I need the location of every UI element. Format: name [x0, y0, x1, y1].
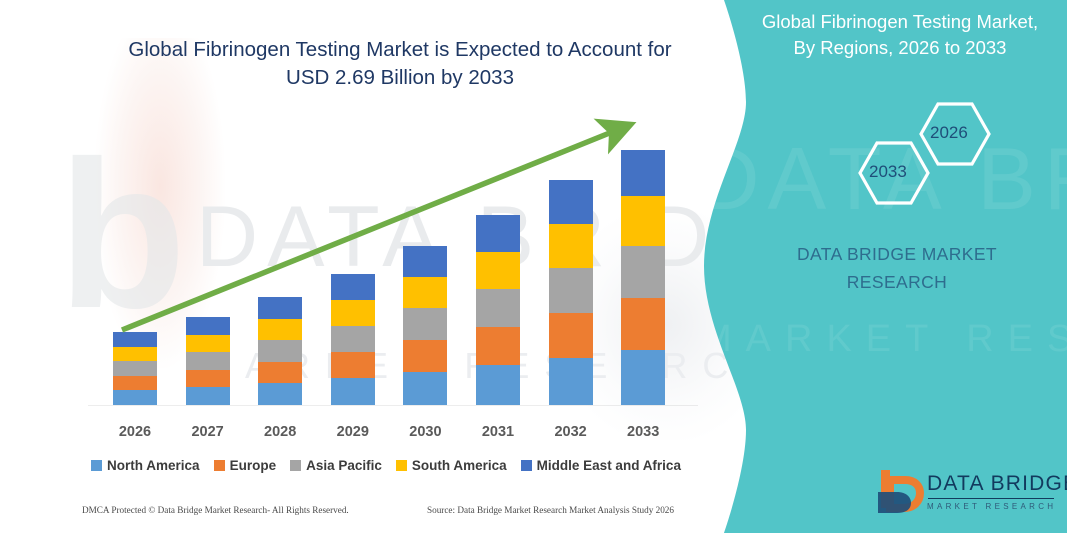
- bar-2027: [186, 317, 230, 405]
- bar-segment: [549, 268, 593, 313]
- footer-source: Source: Data Bridge Market Research Mark…: [427, 505, 674, 515]
- chart-plot-area: 20262027202820292030203120322033 North A…: [0, 0, 730, 533]
- bar-2033: [621, 150, 665, 405]
- bar-segment: [621, 196, 665, 246]
- legend-label: North America: [107, 458, 200, 473]
- legend-label: Europe: [230, 458, 277, 473]
- x-axis-label-2027: 2027: [173, 424, 243, 440]
- legend-label: Asia Pacific: [306, 458, 382, 473]
- x-axis-label-2033: 2033: [608, 424, 678, 440]
- x-axis-label-2029: 2029: [318, 424, 388, 440]
- bar-segment: [476, 365, 520, 405]
- logo-tagline: MARKET RESEARCH: [927, 502, 1067, 511]
- bar-segment: [113, 332, 157, 347]
- bar-segment: [549, 224, 593, 268]
- bar-2026: [113, 332, 157, 405]
- data-bridge-logo: DATA BRIDGE MARKET RESEARCH: [875, 468, 1060, 520]
- bar-segment: [403, 308, 447, 340]
- hexagon-group: 2026 2033: [820, 96, 1050, 211]
- x-axis-label-2030: 2030: [390, 424, 460, 440]
- logo-name: DATA BRIDGE: [927, 472, 1067, 496]
- legend-swatch-icon: [290, 460, 301, 471]
- bar-segment: [403, 372, 447, 405]
- bar-segment: [476, 289, 520, 327]
- bar-segment: [258, 383, 302, 405]
- bar-segment: [331, 300, 375, 326]
- legend-swatch-icon: [396, 460, 407, 471]
- legend-item-asia-pacific[interactable]: Asia Pacific: [290, 458, 382, 473]
- bar-segment: [621, 298, 665, 350]
- legend-label: South America: [412, 458, 507, 473]
- bar-segment: [476, 327, 520, 365]
- panel-title-line2: By Regions, 2026 to 2033: [740, 35, 1060, 61]
- bar-segment: [186, 370, 230, 387]
- bar-segment: [113, 347, 157, 361]
- bar-segment: [549, 180, 593, 224]
- bar-segment: [331, 274, 375, 300]
- panel-title: Global Fibrinogen Testing Market, By Reg…: [740, 9, 1060, 62]
- bar-segment: [331, 378, 375, 405]
- bar-segment: [476, 215, 520, 252]
- logo-mark-icon: [875, 468, 925, 514]
- legend-item-europe[interactable]: Europe: [214, 458, 277, 473]
- logo-wordmark: DATA BRIDGE MARKET RESEARCH: [927, 472, 1067, 511]
- right-info-panel: DATA BRIDGE MARKET RESEARCH Global Fibri…: [690, 0, 1067, 533]
- legend-swatch-icon: [521, 460, 532, 471]
- bar-segment: [403, 340, 447, 372]
- bar-2031: [476, 215, 520, 405]
- bar-2028: [258, 297, 302, 405]
- bar-segment: [113, 390, 157, 405]
- bar-segment: [549, 358, 593, 405]
- bar-segment: [549, 313, 593, 358]
- panel-brand-line1: DATA BRIDGE MARKET: [732, 240, 1062, 268]
- legend-swatch-icon: [214, 460, 225, 471]
- legend-label: Middle East and Africa: [537, 458, 681, 473]
- x-axis-label-2028: 2028: [245, 424, 315, 440]
- bar-segment: [113, 361, 157, 376]
- bar-segment: [403, 277, 447, 308]
- hexagon-label-2033: 2033: [869, 162, 907, 182]
- x-axis-label-2031: 2031: [463, 424, 533, 440]
- footer-copyright: DMCA Protected © Data Bridge Market Rese…: [82, 505, 349, 515]
- x-axis-labels: 20262027202820292030203120322033: [0, 424, 730, 444]
- bar-2032: [549, 180, 593, 405]
- legend-item-south-america[interactable]: South America: [396, 458, 507, 473]
- bar-segment: [476, 252, 520, 289]
- bar-segment: [113, 376, 157, 390]
- panel-brand-text: DATA BRIDGE MARKET RESEARCH: [732, 240, 1062, 296]
- bar-segment: [258, 319, 302, 340]
- bar-segment: [621, 246, 665, 298]
- footer: DMCA Protected © Data Bridge Market Rese…: [0, 505, 730, 525]
- legend-item-north-america[interactable]: North America: [91, 458, 200, 473]
- hexagon-outlines: [820, 96, 1050, 211]
- hexagon-label-2026: 2026: [930, 123, 968, 143]
- panel-title-line1: Global Fibrinogen Testing Market,: [740, 9, 1060, 35]
- bar-segment: [186, 352, 230, 370]
- bar-2029: [331, 274, 375, 405]
- chart-legend: North AmericaEuropeAsia PacificSouth Ame…: [96, 455, 676, 475]
- bar-segment: [186, 387, 230, 405]
- bar-segment: [186, 317, 230, 335]
- panel-brand-line2: RESEARCH: [732, 268, 1062, 296]
- x-axis-label-2032: 2032: [536, 424, 606, 440]
- bar-segment: [621, 350, 665, 405]
- legend-item-middle-east-and-africa[interactable]: Middle East and Africa: [521, 458, 681, 473]
- bar-segment: [331, 326, 375, 352]
- bar-segment: [258, 297, 302, 319]
- legend-swatch-icon: [91, 460, 102, 471]
- bar-2030: [403, 246, 447, 405]
- bar-segment: [258, 362, 302, 383]
- bar-segment: [403, 246, 447, 277]
- logo-divider: [928, 498, 1054, 499]
- bar-segment: [331, 352, 375, 378]
- bar-segment: [186, 335, 230, 352]
- infographic-canvas: b DATA BRIDGE MARKET RESEARCH Global Fib…: [0, 0, 1067, 533]
- x-axis-label-2026: 2026: [100, 424, 170, 440]
- stacked-bar-series: [0, 0, 730, 533]
- bar-segment: [621, 150, 665, 196]
- bar-segment: [258, 340, 302, 362]
